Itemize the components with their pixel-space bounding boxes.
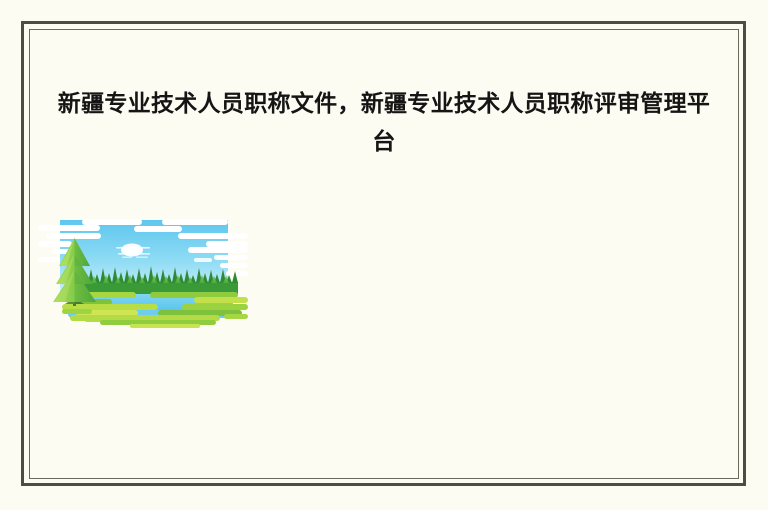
page-content: 新疆专业技术人员职称文件，新疆专业技术人员职称评审管理平台	[30, 30, 738, 478]
page-title: 新疆专业技术人员职称文件，新疆专业技术人员职称评审管理平台	[52, 85, 716, 161]
landscape-illustration	[38, 214, 248, 329]
